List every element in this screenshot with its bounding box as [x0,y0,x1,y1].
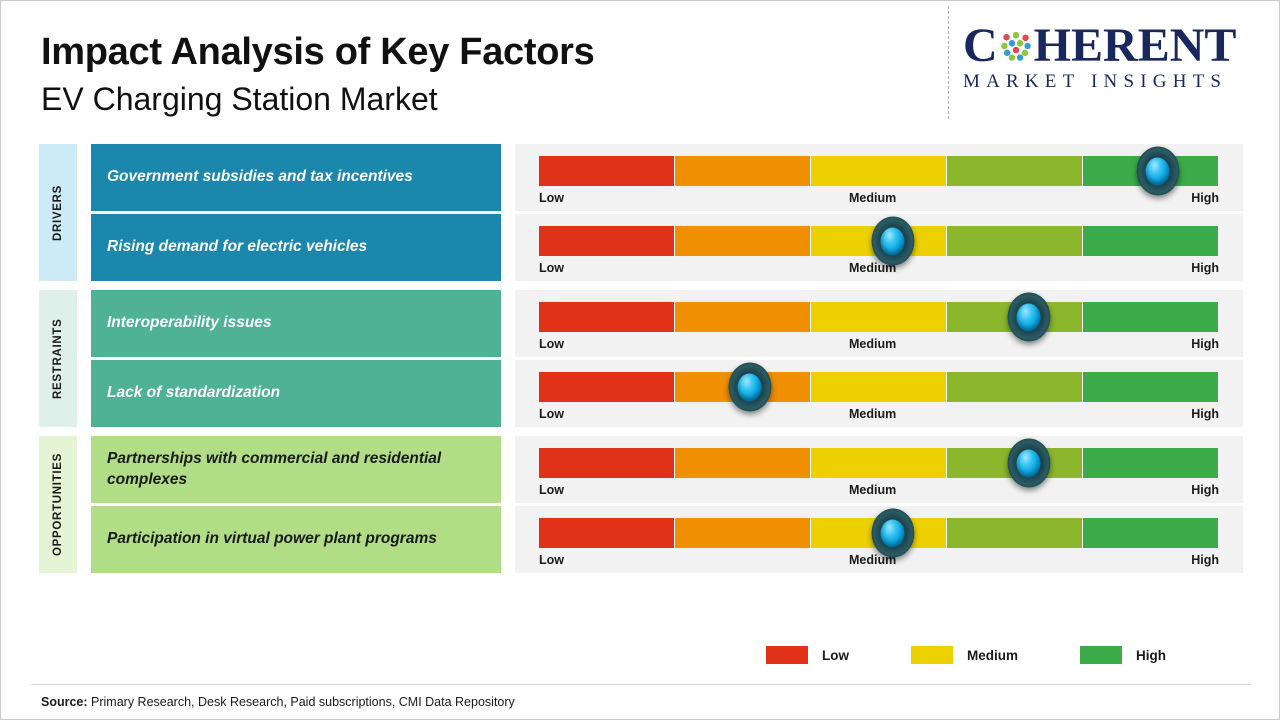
gauge-segment-5 [1083,518,1219,548]
group-label-restraints: RESTRAINTS [39,290,77,427]
gauge-segment-1 [539,518,675,548]
impact-marker[interactable] [728,363,771,412]
gauge-segment-1 [539,372,675,402]
gauge-segment-5 [1083,226,1219,256]
gauge-bar [539,448,1219,478]
factor-label: Partnerships with commercial and residen… [91,436,501,503]
factor-row: Government subsidies and tax incentivesL… [77,144,1243,211]
scale-labels: LowMediumHigh [539,407,1219,421]
scale-label-high: High [1191,553,1219,567]
scale-labels: LowMediumHigh [539,483,1219,497]
gauge-segment-4 [947,518,1083,548]
gauge-segment-5 [1083,448,1219,478]
factor-label: Interoperability issues [91,290,501,357]
scale-label-low: Low [539,483,564,497]
gauge-segment-1 [539,226,675,256]
gauge-segment-1 [539,448,675,478]
logo-divider [948,6,949,119]
scale-label-low: Low [539,553,564,567]
factor-label: Participation in virtual power plant pro… [91,506,501,573]
source-label: Source: [41,695,88,709]
page-title: Impact Analysis of Key Factors [41,31,594,74]
gauge-bar [539,302,1219,332]
impact-marker[interactable] [1007,293,1050,342]
factor-row: Lack of standardizationLowMediumHigh [77,360,1243,427]
impact-marker[interactable] [1007,439,1050,488]
group-rows: Government subsidies and tax incentivesL… [77,144,1243,281]
factor-row: Participation in virtual power plant pro… [77,506,1243,573]
factor-row: Partnerships with commercial and residen… [77,436,1243,503]
factor-group: OPPORTUNITIESPartnerships with commercia… [39,436,1243,573]
impact-marker[interactable] [871,217,914,266]
gauge-segment-1 [539,156,675,186]
scale-label-high: High [1191,407,1219,421]
legend-label: Medium [967,648,1018,663]
scale-label-medium: Medium [849,191,896,205]
title-block: Impact Analysis of Key Factors EV Chargi… [41,31,594,118]
page-subtitle: EV Charging Station Market [41,80,594,118]
gauge-segment-2 [675,518,811,548]
gauge-segment-3 [811,302,947,332]
gauge-segment-3 [811,372,947,402]
scale-label-medium: Medium [849,483,896,497]
factor-label: Rising demand for electric vehicles [91,214,501,281]
impact-gauge: LowMediumHigh [515,214,1243,281]
logo-word-rest: HERENT [1034,22,1237,70]
gauge-segment-1 [539,302,675,332]
source-text: Primary Research, Desk Research, Paid su… [88,695,515,709]
scale-labels: LowMediumHigh [539,261,1219,275]
logo-letter-c: C [963,22,998,70]
scale-label-high: High [1191,483,1219,497]
company-logo: C HERENT MARKET INSIGHTS [963,23,1263,93]
source-divider [31,684,1251,685]
scale-label-low: Low [539,261,564,275]
group-rows: Interoperability issuesLowMediumHighLack… [77,290,1243,427]
gauge-segment-4 [947,156,1083,186]
gauge-bar [539,156,1219,186]
scale-label-medium: Medium [849,407,896,421]
scale-label-high: High [1191,261,1219,275]
legend-item: Medium [911,646,1018,664]
scale-label-low: Low [539,407,564,421]
scale-labels: LowMediumHigh [539,191,1219,205]
legend: LowMediumHigh [766,646,1166,664]
legend-label: High [1136,648,1166,663]
impact-gauge: LowMediumHigh [515,144,1243,211]
impact-gauge: LowMediumHigh [515,360,1243,427]
impact-matrix: DRIVERSGovernment subsidies and tax ince… [39,144,1243,573]
impact-gauge: LowMediumHigh [515,506,1243,573]
gauge-bar [539,372,1219,402]
impact-marker[interactable] [871,509,914,558]
gauge-segment-3 [811,156,947,186]
scale-label-medium: Medium [849,337,896,351]
factor-group: RESTRAINTSInteroperability issuesLowMedi… [39,290,1243,427]
source-line: Source: Primary Research, Desk Research,… [41,695,515,709]
gauge-segment-5 [1083,302,1219,332]
legend-item: High [1080,646,1166,664]
group-rows: Partnerships with commercial and residen… [77,436,1243,573]
gauge-segment-4 [947,226,1083,256]
legend-swatch [1080,646,1122,664]
gauge-segment-3 [811,448,947,478]
legend-label: Low [822,648,849,663]
scale-labels: LowMediumHigh [539,337,1219,351]
gauge-segment-2 [675,448,811,478]
factor-group: DRIVERSGovernment subsidies and tax ince… [39,144,1243,281]
gauge-bar [539,226,1219,256]
gauge-segment-2 [675,302,811,332]
legend-swatch [911,646,953,664]
impact-gauge: LowMediumHigh [515,436,1243,503]
logo-tagline: MARKET INSIGHTS [963,71,1263,93]
group-label-opportunities: OPPORTUNITIES [39,436,77,573]
factor-row: Interoperability issuesLowMediumHigh [77,290,1243,357]
gauge-segment-4 [947,372,1083,402]
slide-canvas: Impact Analysis of Key Factors EV Chargi… [0,0,1280,720]
legend-item: Low [766,646,849,664]
globe-dots-icon [999,29,1033,63]
scale-labels: LowMediumHigh [539,553,1219,567]
group-label-drivers: DRIVERS [39,144,77,281]
gauge-segment-2 [675,156,811,186]
impact-marker[interactable] [1136,147,1179,196]
gauge-segment-5 [1083,372,1219,402]
factor-label: Government subsidies and tax incentives [91,144,501,211]
gauge-bar [539,518,1219,548]
scale-label-low: Low [539,191,564,205]
gauge-segment-2 [675,226,811,256]
scale-label-low: Low [539,337,564,351]
scale-label-high: High [1191,337,1219,351]
scale-label-high: High [1191,191,1219,205]
legend-swatch [766,646,808,664]
factor-label: Lack of standardization [91,360,501,427]
impact-gauge: LowMediumHigh [515,290,1243,357]
logo-wordmark: C HERENT [963,23,1263,69]
factor-row: Rising demand for electric vehiclesLowMe… [77,214,1243,281]
